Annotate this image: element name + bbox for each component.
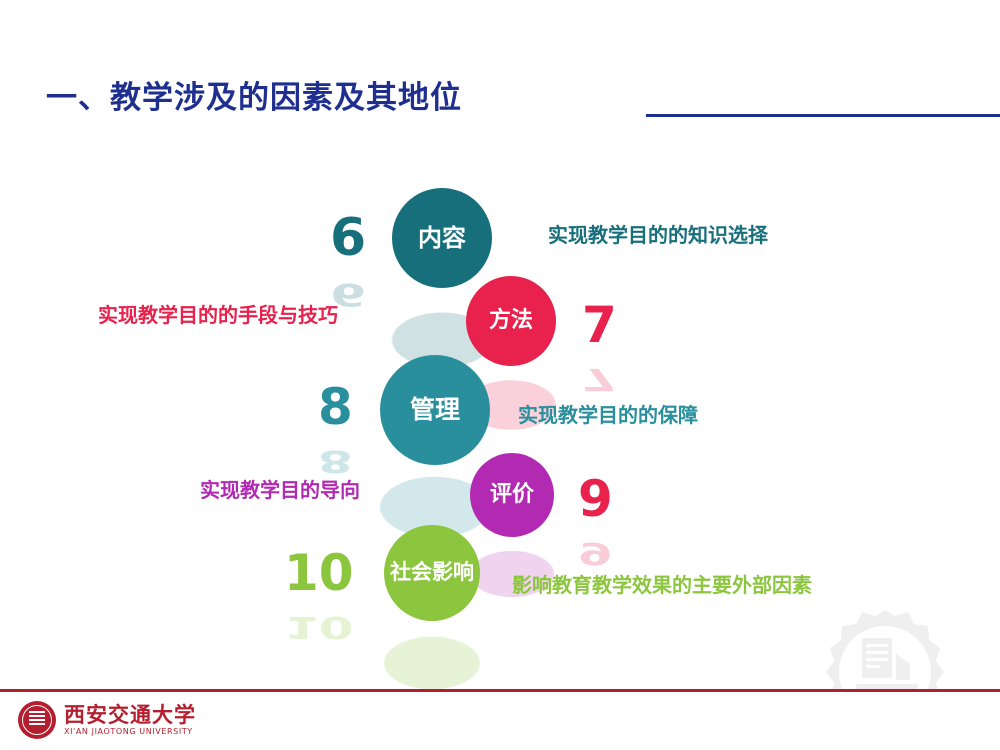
footer-bar: 西安交通大学 XI'AN JIAOTONG UNIVERSITY: [0, 689, 1000, 750]
bubble-social-influence[interactable]: 社会影响: [384, 525, 480, 621]
bubble-number-7: 7: [582, 300, 617, 350]
bubble-number-9: 9: [578, 474, 613, 524]
bubble-diagram: 内容 6 6 实现教学目的的知识选择 方法 7 7 实现教学目的的手段与技巧 管…: [0, 160, 1000, 640]
bubble-number-reflection-8: 8: [318, 446, 353, 476]
logo-name-cn: 西安交通大学: [64, 704, 196, 725]
bubble-number-reflection-9: 9: [578, 538, 613, 568]
bubble-label-method: 方法: [483, 309, 539, 334]
seal-icon: [18, 701, 56, 739]
slide-title-area: 一、教学涉及的因素及其地位: [46, 78, 1000, 128]
bubble-number-reflection-10: 10: [284, 612, 354, 642]
university-logo: 西安交通大学 XI'AN JIAOTONG UNIVERSITY: [18, 696, 196, 744]
bubble-method[interactable]: 方法: [466, 276, 556, 366]
bubble-content[interactable]: 内容: [392, 188, 492, 288]
caption-method: 实现教学目的的手段与技巧: [98, 305, 338, 325]
page-title: 一、教学涉及的因素及其地位: [46, 78, 462, 118]
logo-name-en: XI'AN JIAOTONG UNIVERSITY: [64, 728, 196, 736]
bubble-label-social-influence: 社会影响: [384, 561, 480, 585]
slide-canvas: 一、教学涉及的因素及其地位 内容 6 6 实现教学目的的知识选择 方法 7 7 …: [0, 0, 1000, 750]
title-underline: [646, 114, 1000, 117]
caption-content: 实现教学目的的知识选择: [548, 225, 768, 245]
bubble-label-management: 管理: [404, 396, 466, 424]
bubble-label-evaluation: 评价: [484, 483, 540, 508]
bubble-label-content: 内容: [412, 225, 472, 252]
bubble-number-reflection-7: 7: [582, 364, 617, 394]
bubble-number-8: 8: [318, 382, 353, 432]
caption-management: 实现教学目的的保障: [518, 405, 698, 425]
caption-evaluation: 实现教学目的导向: [200, 480, 360, 500]
bubble-number-10: 10: [284, 548, 354, 598]
caption-social-influence: 影响教育教学效果的主要外部因素: [512, 575, 812, 595]
bubble-management[interactable]: 管理: [380, 355, 490, 465]
bubble-reflection-10: [384, 637, 480, 690]
bubble-evaluation[interactable]: 评价: [470, 453, 554, 537]
bubble-number-6: 6: [330, 212, 366, 264]
